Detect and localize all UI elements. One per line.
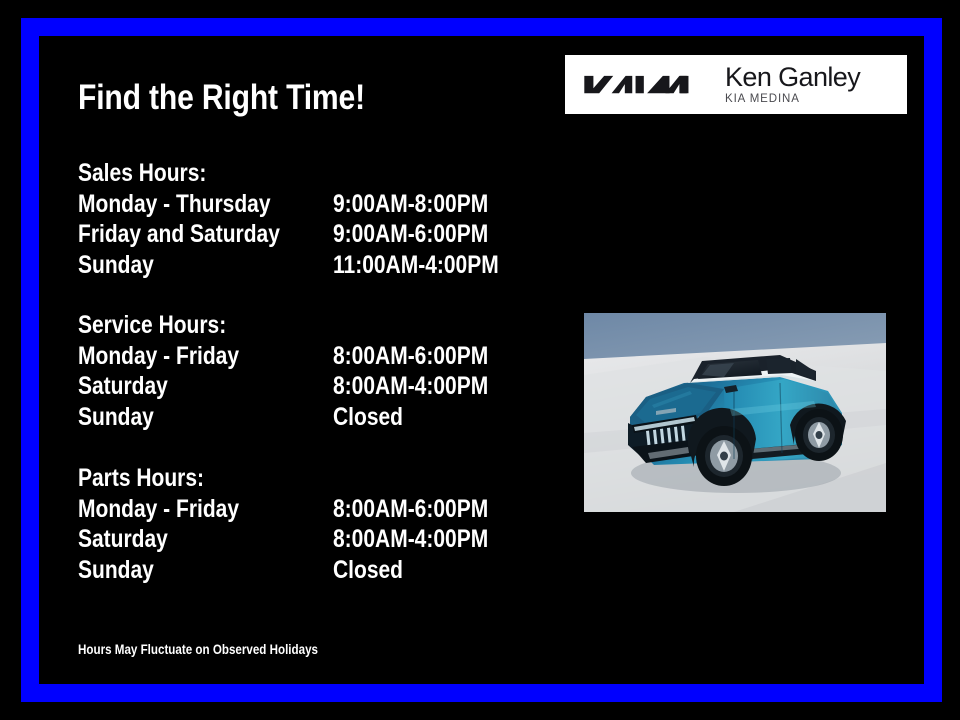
hours-row: Saturday 8:00AM-4:00PM bbox=[78, 524, 228, 555]
hours-row: Monday - Thursday 9:00AM-8:00PM bbox=[78, 189, 231, 220]
day-label: Monday - Friday bbox=[78, 341, 239, 372]
service-hours-block: Service Hours: Monday - Friday 8:00AM-6:… bbox=[78, 310, 254, 432]
service-hours-heading: Service Hours: bbox=[78, 310, 226, 341]
slide-canvas: Find the Right Time! Sales Hours: Monday… bbox=[0, 0, 960, 720]
time-value: 8:00AM-4:00PM bbox=[333, 371, 488, 402]
hours-row: Friday and Saturday 9:00AM-6:00PM bbox=[78, 219, 231, 250]
day-label: Monday - Thursday bbox=[78, 189, 271, 220]
time-value: Closed bbox=[333, 402, 403, 433]
day-label: Saturday bbox=[78, 371, 168, 402]
kia-logo-mark bbox=[581, 70, 705, 100]
vehicle-photo bbox=[584, 313, 886, 512]
holiday-disclaimer: Hours May Fluctuate on Observed Holidays bbox=[78, 641, 318, 658]
hours-row: Monday - Friday 8:00AM-6:00PM bbox=[78, 341, 254, 372]
hours-row: Saturday 8:00AM-4:00PM bbox=[78, 371, 254, 402]
day-label: Sunday bbox=[78, 402, 154, 433]
day-label: Sunday bbox=[78, 555, 154, 586]
page-title: Find the Right Time! bbox=[78, 78, 365, 118]
dealer-location: KIA MEDINA bbox=[725, 92, 800, 106]
hours-row: Sunday Closed bbox=[78, 402, 254, 433]
parts-hours-block: Parts Hours: Monday - Friday 8:00AM-6:00… bbox=[78, 463, 228, 585]
hours-row: Sunday Closed bbox=[78, 555, 228, 586]
time-value: 9:00AM-8:00PM bbox=[333, 189, 488, 220]
day-label: Saturday bbox=[78, 524, 168, 555]
sales-hours-block: Sales Hours: Monday - Thursday 9:00AM-8:… bbox=[78, 158, 231, 280]
parts-hours-heading: Parts Hours: bbox=[78, 463, 204, 494]
dealer-name: Ken Ganley bbox=[725, 63, 860, 91]
day-label: Sunday bbox=[78, 250, 154, 281]
time-value: 8:00AM-6:00PM bbox=[333, 341, 488, 372]
time-value: 8:00AM-6:00PM bbox=[333, 494, 488, 525]
dealer-logo-banner: Ken Ganley KIA MEDINA bbox=[565, 55, 907, 114]
vehicle-illustration bbox=[584, 313, 886, 512]
day-label: Monday - Friday bbox=[78, 494, 239, 525]
sales-hours-heading: Sales Hours: bbox=[78, 158, 206, 189]
time-value: Closed bbox=[333, 555, 403, 586]
hours-row: Monday - Friday 8:00AM-6:00PM bbox=[78, 494, 228, 525]
time-value: 8:00AM-4:00PM bbox=[333, 524, 488, 555]
day-label: Friday and Saturday bbox=[78, 219, 280, 250]
time-value: 9:00AM-6:00PM bbox=[333, 219, 488, 250]
time-value: 11:00AM-4:00PM bbox=[333, 250, 499, 281]
hours-row: Sunday 11:00AM-4:00PM bbox=[78, 250, 231, 281]
dealer-wordmark: Ken Ganley KIA MEDINA bbox=[725, 63, 860, 106]
